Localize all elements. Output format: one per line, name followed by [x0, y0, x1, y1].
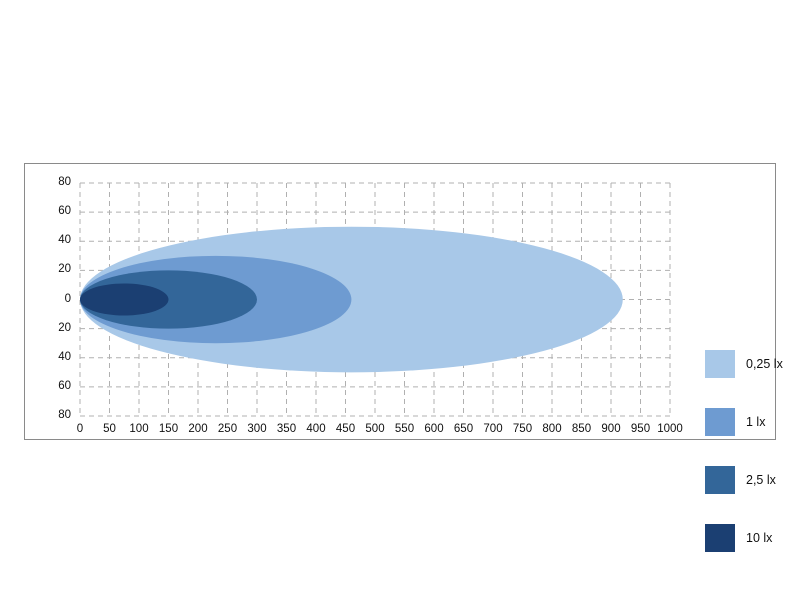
legend-color-swatch	[705, 524, 735, 552]
distribution-ellipse	[80, 283, 169, 315]
y-axis-tick-label: 80	[25, 177, 71, 189]
legend-label: 1 lx	[746, 416, 765, 429]
y-axis-tick-label: 60	[25, 206, 71, 218]
legend-color-swatch	[705, 466, 735, 494]
chart-legend: 0,25 lx1 lx2,5 lx10 lx	[680, 350, 800, 565]
chart-figure: 80604020020406080 0501001502002503003504…	[24, 163, 776, 440]
y-axis-tick-label: 20	[25, 323, 71, 335]
y-axis-tick-label: 80	[25, 410, 71, 422]
legend-color-swatch	[705, 350, 735, 378]
legend-label: 10 lx	[746, 532, 772, 545]
legend-item: 2,5 lx	[705, 466, 776, 494]
light-distribution-plot	[25, 164, 777, 441]
legend-color-swatch	[705, 408, 735, 436]
y-axis-tick-label: 20	[25, 264, 71, 276]
legend-item: 0,25 lx	[705, 350, 783, 378]
legend-item: 10 lx	[705, 524, 772, 552]
y-axis-tick-label: 40	[25, 235, 71, 247]
distribution-ellipses	[80, 227, 623, 373]
legend-label: 0,25 lx	[746, 358, 783, 371]
legend-label: 2,5 lx	[746, 474, 776, 487]
y-axis-tick-label: 60	[25, 381, 71, 393]
legend-item: 1 lx	[705, 408, 765, 436]
y-axis-tick-label: 0	[25, 294, 71, 306]
y-axis-tick-label: 40	[25, 352, 71, 364]
